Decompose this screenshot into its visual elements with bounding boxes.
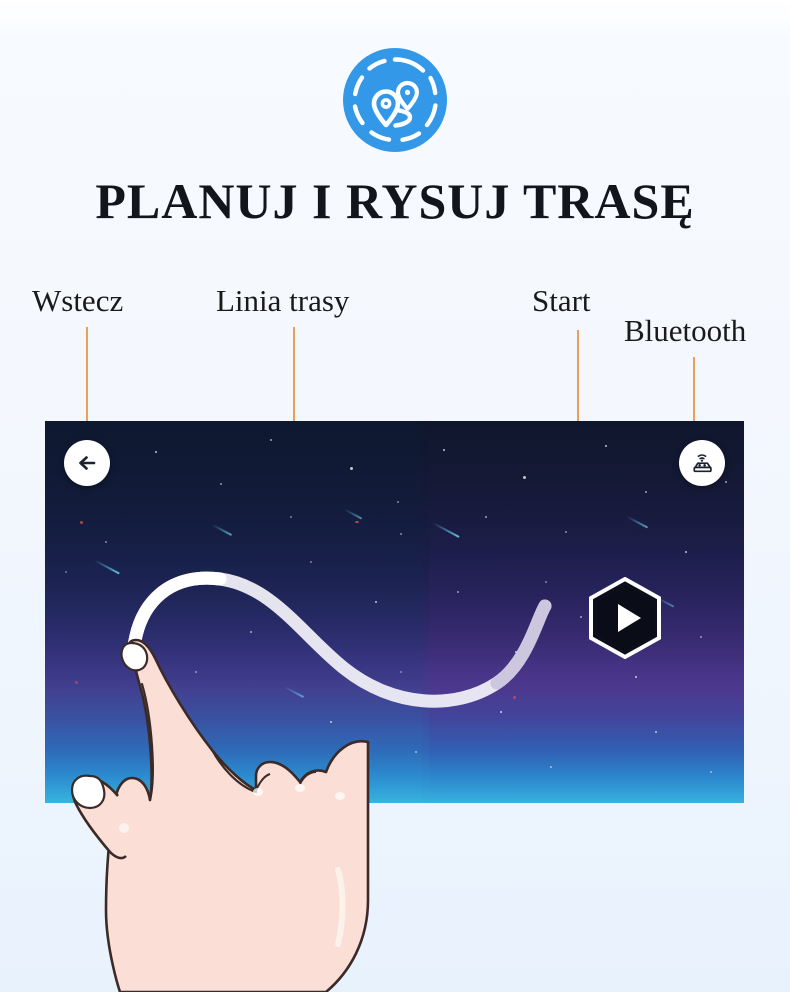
route-planner-logo <box>341 46 449 154</box>
bluetooth-button[interactable] <box>679 440 725 486</box>
callout-label-bluetooth: Bluetooth <box>624 313 746 349</box>
callout-label-linia-trasy: Linia trasy <box>216 283 349 319</box>
back-button[interactable] <box>64 440 110 486</box>
arrow-left-icon <box>75 451 99 475</box>
rc-car-signal-icon <box>688 449 716 477</box>
callout-label-wstecz: Wstecz <box>32 283 123 319</box>
hexagon-start-shape <box>588 577 662 659</box>
page-title: PLANUJ I RYSUJ TRASĘ <box>0 172 790 230</box>
callout-label-start: Start <box>532 283 591 319</box>
map-pins-circle-icon <box>341 46 449 154</box>
logo-container <box>0 46 790 154</box>
start-button[interactable] <box>588 577 662 659</box>
